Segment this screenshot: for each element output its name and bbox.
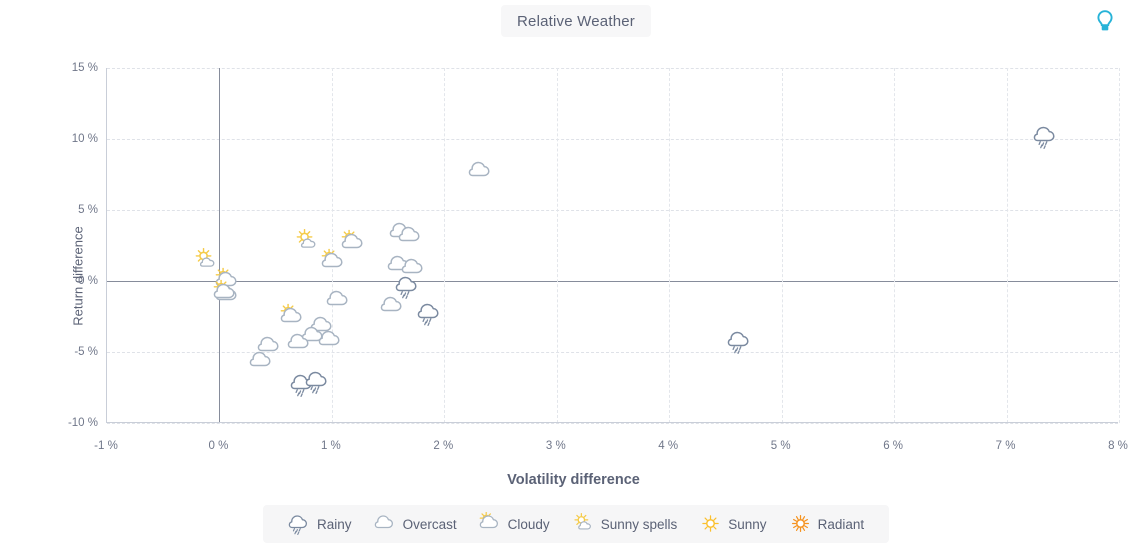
gridline-vertical [557, 68, 558, 423]
data-point-rainy-icon[interactable] [727, 328, 753, 354]
gridline-horizontal [107, 423, 1118, 424]
sunny-spells-icon [572, 512, 595, 535]
data-point-overcast-icon[interactable] [249, 347, 275, 373]
legend-item-sunny-spells[interactable]: Sunny spells [561, 512, 689, 535]
rainy-icon [288, 512, 311, 535]
legend-item-radiant[interactable]: Radiant [778, 512, 876, 535]
data-point-cloudy-icon[interactable] [321, 249, 347, 275]
chart-legend: RainyOvercastCloudySunny spellsSunnyRadi… [263, 505, 889, 543]
gridline-horizontal [107, 210, 1118, 211]
x-axis-tick: 8 % [1108, 440, 1128, 452]
gridline-vertical [444, 68, 445, 423]
data-point-overcast-icon[interactable] [397, 223, 423, 249]
x-axis-tick: -1 % [94, 440, 118, 452]
cloudy-icon [479, 512, 502, 535]
data-point-rainy-icon[interactable] [1033, 123, 1059, 149]
plot-area [106, 68, 1118, 423]
x-zero-axis-line [219, 68, 220, 423]
x-axis-tick: 3 % [546, 440, 566, 452]
x-axis-tick: 2 % [433, 440, 453, 452]
y-axis-tick: 10 % [72, 133, 98, 145]
x-axis-tick: 7 % [996, 440, 1016, 452]
gridline-vertical [1007, 68, 1008, 423]
y-axis-tick: 15 % [72, 62, 98, 74]
data-point-sunny-spells-icon[interactable] [294, 227, 320, 253]
data-point-overcast-icon[interactable] [287, 330, 313, 356]
legend-label: Sunny [728, 517, 766, 532]
x-axis-tick: 0 % [209, 440, 229, 452]
x-axis-label: Volatility difference [0, 472, 1147, 488]
gridline-vertical [1119, 68, 1120, 423]
legend-label: Radiant [818, 517, 865, 532]
x-axis-tick: 6 % [883, 440, 903, 452]
overcast-icon [374, 512, 397, 535]
y-axis-tick: -5 % [74, 346, 98, 358]
gridline-vertical [894, 68, 895, 423]
y-axis-tick: 0 % [78, 275, 98, 287]
x-axis-tick: 5 % [771, 440, 791, 452]
data-point-cloudy-icon[interactable] [279, 304, 305, 330]
legend-label: Rainy [317, 517, 352, 532]
data-point-cloudy-icon[interactable] [213, 280, 239, 306]
data-point-overcast-icon[interactable] [326, 287, 352, 313]
radiant-icon [789, 512, 812, 535]
gridline-vertical [669, 68, 670, 423]
legend-label: Cloudy [508, 517, 550, 532]
data-point-sunny-spells-icon[interactable] [193, 247, 219, 273]
legend-label: Overcast [403, 517, 457, 532]
y-axis-tick: 5 % [78, 204, 98, 216]
weather-scatter-chart: Relative Weather Return difference Volat… [0, 0, 1147, 552]
x-axis-tick: 1 % [321, 440, 341, 452]
data-point-overcast-icon[interactable] [468, 158, 494, 184]
data-point-overcast-icon[interactable] [401, 254, 427, 280]
y-axis-tick: -10 % [68, 417, 98, 429]
legend-item-rainy[interactable]: Rainy [277, 512, 363, 535]
gridline-vertical [332, 68, 333, 423]
legend-label: Sunny spells [601, 517, 678, 532]
page-title: Relative Weather [501, 5, 651, 37]
data-point-rainy-icon[interactable] [305, 368, 331, 394]
data-point-rainy-icon[interactable] [417, 300, 443, 326]
legend-item-sunny[interactable]: Sunny [688, 512, 777, 535]
sunny-icon [699, 512, 722, 535]
legend-item-overcast[interactable]: Overcast [363, 512, 468, 535]
legend-item-cloudy[interactable]: Cloudy [468, 512, 561, 535]
lightbulb-icon[interactable] [1090, 5, 1120, 37]
data-point-overcast-icon[interactable] [379, 293, 405, 319]
gridline-horizontal [107, 68, 1118, 69]
gridline-vertical [782, 68, 783, 423]
x-axis-tick: 4 % [658, 440, 678, 452]
gridline-horizontal [107, 139, 1118, 140]
data-point-overcast-icon[interactable] [318, 327, 344, 353]
y-zero-axis-line [107, 281, 1118, 282]
